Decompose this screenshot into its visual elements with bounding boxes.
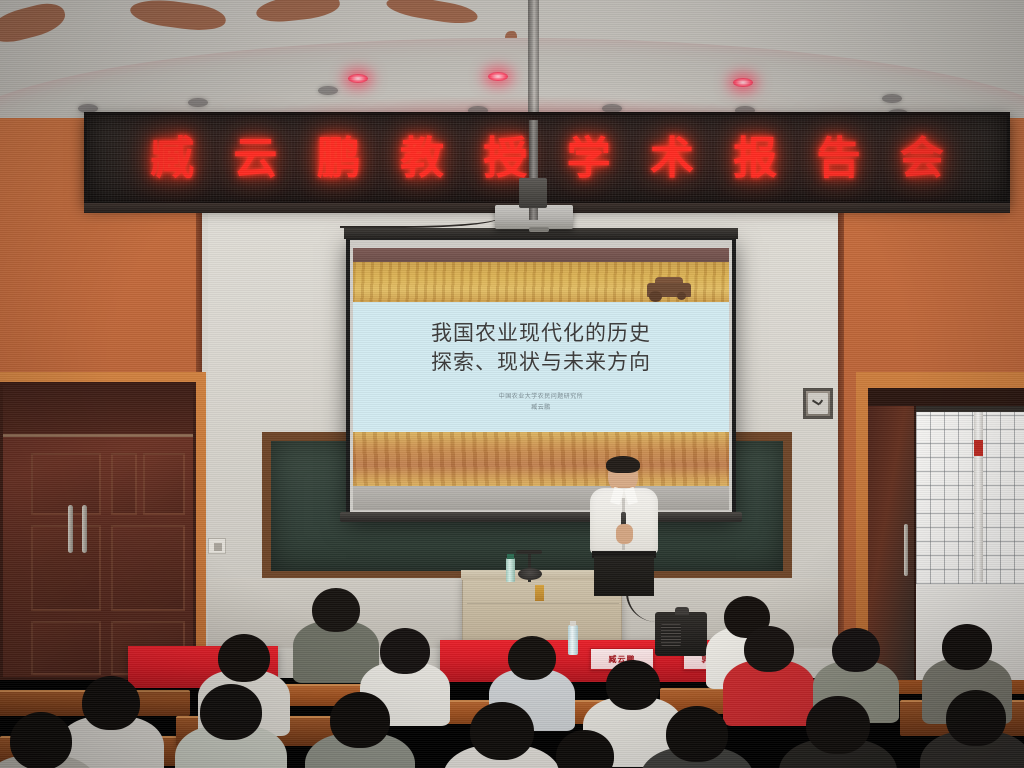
left-double-door[interactable] xyxy=(0,382,196,680)
audience-head xyxy=(470,702,534,760)
slide-title: 我国农业现代化的历史 探索、现状与未来方向 xyxy=(431,319,651,377)
amplifier-speaker-box xyxy=(655,612,707,656)
audience-head xyxy=(312,588,360,632)
slide-subtitle: 中国农业大学农民问题研究所 臧云鹏 xyxy=(499,391,584,414)
left-door-handle[interactable] xyxy=(68,505,73,553)
audience-head xyxy=(82,676,140,730)
amp-grill-icon xyxy=(661,624,681,646)
left-door-transom xyxy=(3,385,193,437)
ceiling-downlight xyxy=(488,72,508,81)
lectern-tag xyxy=(535,585,544,601)
clock-face xyxy=(808,393,828,414)
slide-wheat-field-top xyxy=(353,262,729,302)
audience-head xyxy=(330,692,390,748)
podium-water-bottle xyxy=(506,558,515,582)
screen-blank-lower-strip xyxy=(353,486,729,510)
screen-bottom-weight-bar xyxy=(340,512,742,522)
corridor-tiled-wall xyxy=(916,412,1024,584)
led-banner-text: 臧 云 鹏 教 授 学 术 报 告 会 xyxy=(138,137,956,181)
door-panel xyxy=(111,525,185,611)
slide-wheat-field-bottom xyxy=(353,432,729,490)
speaker-trousers xyxy=(594,556,654,596)
harvester-combine-icon xyxy=(643,276,699,302)
audience-head xyxy=(942,624,992,670)
bottle-cap xyxy=(507,554,514,559)
screen-surface: 我国农业现代化的历史 探索、现状与未来方向 中国农业大学农民问题研究所 臧云鹏 xyxy=(350,240,732,514)
light-switch-icon[interactable] xyxy=(214,543,222,551)
ceiling-downlight xyxy=(188,98,208,107)
audience-head xyxy=(508,636,556,680)
presentation-slide: 我国农业现代化的历史 探索、现状与未来方向 中国农业大学农民问题研究所 臧云鹏 xyxy=(353,248,729,490)
ceiling-downlight xyxy=(318,86,338,95)
door-panel xyxy=(143,453,185,515)
door-panel xyxy=(31,621,101,675)
light-switch-plate[interactable] xyxy=(208,538,226,554)
clock-minute-hand xyxy=(812,400,819,405)
slide-subtitle-presenter: 臧云鹏 xyxy=(499,402,584,413)
corridor-pipe xyxy=(974,412,983,582)
projection-screen: 我国农业现代化的历史 探索、现状与未来方向 中国农业大学农民问题研究所 臧云鹏 xyxy=(346,236,736,518)
right-door-transom xyxy=(868,388,1024,406)
corridor-red-sign xyxy=(974,440,983,456)
door-panel xyxy=(111,453,137,515)
speaker-glasses-icon xyxy=(609,470,637,476)
harvester-wheel-rear xyxy=(677,292,686,300)
pole-bracket xyxy=(519,178,547,208)
ceiling-support-pole xyxy=(528,0,539,126)
audience-head xyxy=(666,706,728,762)
harvester-wheel-front xyxy=(649,291,662,302)
speaker-presenter xyxy=(588,458,660,593)
audience-head xyxy=(380,628,430,674)
slide-subtitle-affiliation: 中国农业大学农民问题研究所 xyxy=(499,391,584,402)
audience-head xyxy=(10,712,72,768)
amp-handle xyxy=(675,607,689,615)
slide-title-line-1: 我国农业现代化的历史 xyxy=(431,319,651,348)
ceiling-downlight xyxy=(348,74,368,83)
lecture-hall-photo: 臧 云 鹏 教 授 学 术 报 告 会 xyxy=(0,0,1024,768)
wall-clock xyxy=(803,388,833,419)
slide-title-line-2: 探索、现状与未来方向 xyxy=(431,348,651,377)
table-water-bottle xyxy=(568,625,578,655)
lectern-seam xyxy=(467,603,619,604)
slide-text-area: 我国农业现代化的历史 探索、现状与未来方向 中国农业大学农民问题研究所 臧云鹏 xyxy=(353,302,729,430)
ceiling-downlight xyxy=(733,78,753,87)
slide-top-band xyxy=(353,248,729,262)
audience-head xyxy=(946,690,1006,746)
door-panel xyxy=(31,453,101,515)
table-bottle-cap xyxy=(570,621,576,626)
audience-head xyxy=(832,628,880,672)
speaker-hands xyxy=(616,524,633,544)
projector-lens-icon xyxy=(529,227,549,232)
audience-head xyxy=(606,660,660,710)
audience-head xyxy=(744,626,794,672)
right-door-handle[interactable] xyxy=(82,505,87,553)
audience-head xyxy=(200,684,262,740)
right-doorway-handle[interactable] xyxy=(904,524,908,576)
audience-head xyxy=(218,634,270,682)
microphone-base xyxy=(518,568,542,580)
audience-head xyxy=(806,696,870,754)
ceiling-downlight xyxy=(882,94,902,103)
door-panel xyxy=(31,525,101,611)
led-banner: 臧 云 鹏 教 授 学 术 报 告 会 xyxy=(84,112,1010,205)
